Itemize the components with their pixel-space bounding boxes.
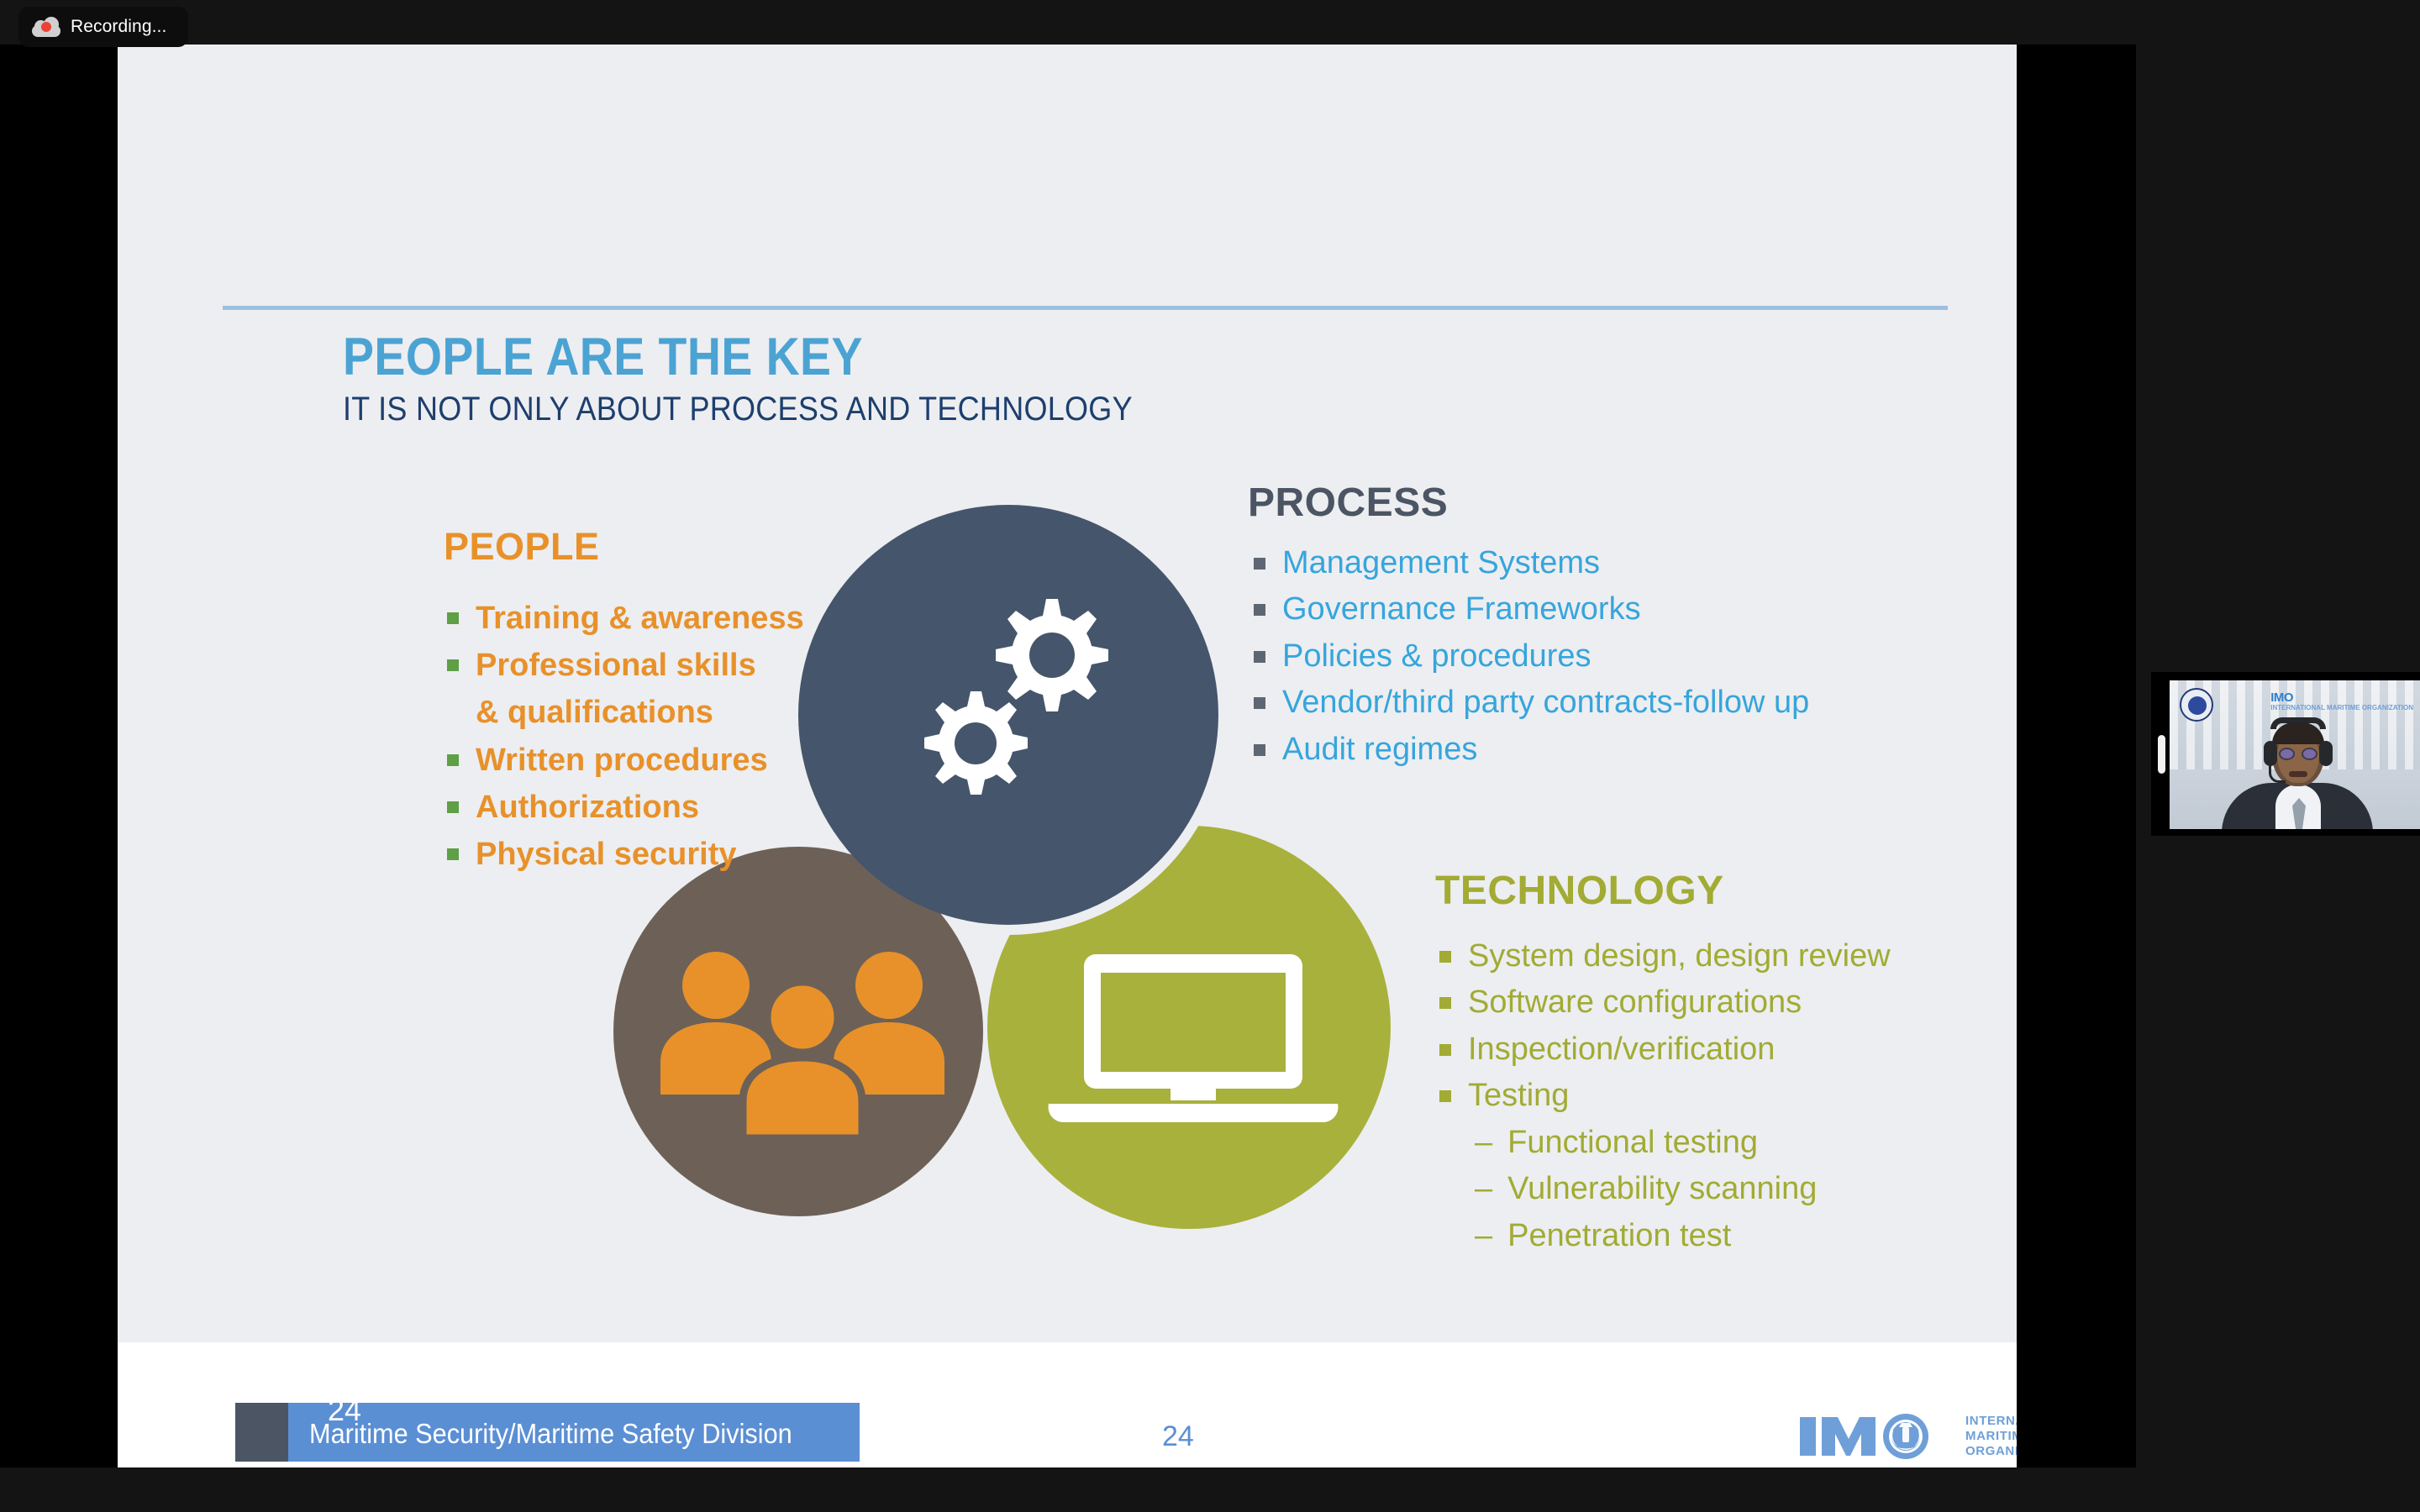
bullet-square-icon [1254,697,1265,709]
bullet-square-icon [1439,1090,1451,1102]
imo-line-3: ORGANIZATION [1965,1444,2017,1459]
footer-division-label: Maritime Security/Maritime Safety Divisi… [309,1418,792,1450]
gears-icon [899,574,1134,826]
list-item-label: Audit regimes [1282,727,1477,773]
list-item: Audit regimes [1254,727,1809,773]
sub-list-item: –Vulnerability scanning [1439,1166,1891,1212]
list-item-label: Written procedures [476,737,768,784]
footer-accent-block [235,1403,289,1462]
sub-list-item-label: Vulnerability scanning [1507,1166,1817,1212]
imo-2021-badge-icon [2180,688,2213,722]
presenter-video-frame: IMOINTERNATIONAL MARITIME ORGANIZATION [2170,680,2420,829]
dash-bullet-icon: – [1475,1213,1492,1259]
video-imo-logo-icon: IMOINTERNATIONAL MARITIME ORGANIZATION [2270,690,2413,712]
sub-list-item: –Functional testing [1439,1120,1891,1166]
list-item-label: Testing [1468,1073,1569,1119]
dash-bullet-icon: – [1475,1120,1492,1166]
technology-heading: TECHNOLOGY [1435,868,1724,914]
sub-list-item-label: Penetration test [1507,1213,1731,1259]
slide-page-number: 24 [1162,1420,1194,1453]
list-item: Vendor/third party contracts-follow up [1254,680,1809,726]
footer-division-bar: Maritime Security/Maritime Safety Divisi… [288,1403,860,1462]
list-item: System design, design review [1439,933,1891,979]
bullet-square-icon [1439,1044,1451,1056]
list-item: Software configurations [1439,979,1891,1026]
list-item-label: Inspection/verification [1468,1026,1775,1073]
slide-subtitle: IT IS NOT ONLY ABOUT PROCESS AND TECHNOL… [343,391,1133,428]
bullet-square-icon [1254,651,1265,663]
video-drag-handle[interactable] [2158,735,2165,774]
list-item-label: Policies & procedures [1282,633,1591,680]
list-item-label: & qualifications [476,689,713,736]
list-item: Governance Frameworks [1254,586,1809,633]
list-item-continuation: & qualifications [447,689,804,736]
bullet-square-icon [447,612,459,624]
imo-line-1: INTERNATIONAL [1965,1414,2017,1429]
dash-bullet-icon: – [1475,1166,1492,1212]
sub-list-item: –Penetration test [1439,1213,1891,1259]
list-item: Inspection/verification [1439,1026,1891,1073]
slide-title: PEOPLE ARE THE KEY [343,327,863,387]
people-bullet-list: Training & awareness Professional skills… [447,595,804,878]
list-item-label: Management Systems [1282,540,1600,586]
footer-slide-number-overlap: 24 [328,1393,361,1428]
bullet-square-icon [1439,951,1451,963]
list-item: Training & awareness [447,595,804,642]
list-item-label: Authorizations [476,784,699,831]
recording-indicator: Recording... [18,7,188,47]
imo-logo: INTERNATIONAL MARITIME ORGANIZATION [1798,1399,2017,1467]
process-bullet-list: Management Systems Governance Frameworks… [1254,540,1809,773]
technology-bullet-list: System design, design review Software co… [1439,933,1891,1259]
list-item-label: System design, design review [1468,933,1891,979]
imo-logo-text: INTERNATIONAL MARITIME ORGANIZATION [1965,1414,2017,1460]
bullet-square-icon [1254,558,1265,570]
list-item: Physical security [447,831,804,878]
imo-wordmark-icon [1798,1410,1954,1462]
list-item-label: Training & awareness [476,595,804,642]
laptop-icon [1034,939,1353,1149]
list-item: Professional skills [447,642,804,689]
bullet-square-icon [447,754,459,766]
list-item-label: Physical security [476,831,737,878]
people-group-icon [655,935,950,1145]
bullet-square-icon [447,801,459,813]
bullet-square-icon [1439,997,1451,1009]
sub-list-item-label: Functional testing [1507,1120,1758,1166]
list-item: Management Systems [1254,540,1809,586]
list-item: Written procedures [447,737,804,784]
list-item-label: Vendor/third party contracts-follow up [1282,680,1809,726]
title-divider-rule [223,306,1948,310]
list-item: Authorizations [447,784,804,831]
cloud-record-icon [32,17,60,37]
people-heading: PEOPLE [444,525,600,569]
process-heading: PROCESS [1248,480,1448,526]
presenter-video-tile[interactable]: IMOINTERNATIONAL MARITIME ORGANIZATION [2151,672,2420,836]
bullet-square-icon [447,659,459,671]
recording-label: Recording... [71,17,166,37]
list-item: Testing [1439,1073,1891,1119]
imo-line-2: MARITIME [1965,1429,2017,1444]
list-item: Policies & procedures [1254,633,1809,680]
list-item-label: Governance Frameworks [1282,586,1641,633]
bullet-square-icon [1254,744,1265,756]
bullet-square-icon [447,848,459,860]
list-item-label: Professional skills [476,642,756,689]
slide-canvas: PEOPLE ARE THE KEY IT IS NOT ONLY ABOUT … [118,45,2017,1467]
list-item-label: Software configurations [1468,979,1802,1026]
bullet-square-icon [1254,604,1265,616]
